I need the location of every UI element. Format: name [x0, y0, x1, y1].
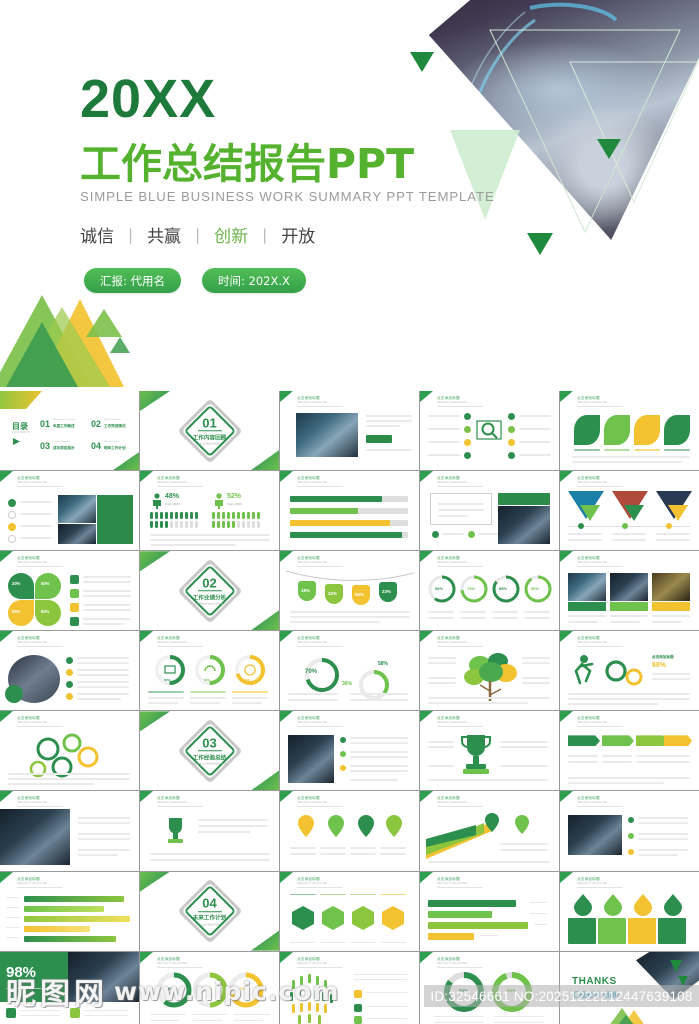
toc-item-3-en: Project Showcase: [53, 441, 71, 443]
final-ring-pct-2: 95%: [507, 988, 516, 993]
slide-header-subtitle: Click here to add your title: [17, 721, 47, 724]
thumbnail-tree-diagram[interactable]: 点击添加标题 Click here to add your title: [420, 631, 559, 710]
toc-item-3-num: 03: [40, 441, 50, 451]
thumbnail-gauges[interactable]: 点击添加标题 Click here to add your title 70% …: [280, 631, 419, 710]
ring-pct-3: 85%: [499, 586, 507, 591]
slide-header-subtitle: Click here to add your title: [577, 401, 607, 404]
ring-pct-2: 73%: [467, 586, 475, 591]
gauge-pct-1: 70%: [305, 669, 317, 675]
slide-header-subtitle: Click here to add your title: [157, 801, 187, 804]
thumbnail-hexagon-icons[interactable]: 点击添加标题 Click here to add your title: [280, 872, 419, 951]
person-icon: [214, 493, 224, 509]
slide-header-subtitle: Click here to add your title: [577, 561, 607, 564]
section-02-cn: 工作业绩分析: [175, 593, 245, 601]
slide-header-subtitle: Click here to add your title: [297, 641, 327, 644]
bottom-ring-pct-2: 50%: [204, 986, 212, 991]
people-array-left: [150, 512, 208, 530]
thumbnail-bar-list[interactable]: 点击添加标题 Click here to add your title: [420, 872, 559, 951]
gears-icon: [602, 655, 648, 689]
section-02-en: Job Performance Analysis: [175, 602, 245, 605]
toc-item-1-cn: 年度工作概述: [53, 424, 75, 429]
thumbnail-photo-list[interactable]: 点击添加标题 Click here to add your title: [560, 791, 699, 870]
quad-pct-3: 50%: [12, 609, 20, 614]
slide-header-subtitle: Click here to add your title: [437, 561, 467, 564]
thumbnail-droplet-cards[interactable]: 点击添加标题 Click here to add your title: [560, 872, 699, 951]
thumbnail-map-pins[interactable]: 点击添加标题 Click here to add your title: [280, 791, 419, 870]
slide-header-subtitle: Click here to add your title: [17, 561, 47, 564]
toc-item-4-cn: 明年工作计划: [104, 446, 126, 451]
slide-header-subtitle: Click here to add your title: [577, 481, 607, 484]
slide-header-subtitle: Click here to add your title: [297, 962, 327, 965]
thanks-en: THANKS: [572, 976, 617, 987]
thumbnail-hero-98-percent[interactable]: 98%: [0, 952, 139, 1024]
hero-value-2: 共赢: [133, 222, 195, 247]
hero-subtitle: SIMPLE BLUE BUSINESS WORK SUMMARY PPT TE…: [80, 189, 495, 204]
thumbnail-bullet-photo[interactable]: 点击添加标题 Click here to add your title: [0, 471, 139, 550]
section-01-num: 01: [175, 416, 245, 429]
thumbnail-section-04[interactable]: 04 未来工作计划 Future Work Plan: [140, 872, 279, 951]
gauge-pct-3: 58%: [378, 661, 388, 667]
tree-icon: [460, 651, 520, 707]
hero-value-1: 诚信: [80, 222, 128, 247]
section-01-cn: 工作内容回顾: [175, 433, 245, 441]
hero-cover-slide: 20XX 工作总结报告PPT SIMPLE BLUE BUSINESS WORK…: [0, 0, 699, 391]
section-03-en: Summary of Work Experience: [175, 763, 245, 766]
thumbnail-people-stats[interactable]: 点击添加标题 Click here to add your title 48% …: [140, 471, 279, 550]
date-pill: 时间: 202X.X: [202, 268, 306, 293]
stat-right-label: From 20XX: [227, 502, 242, 506]
quad-pct-2: 50%: [41, 581, 49, 586]
slide-header-subtitle: Click here to add your title: [577, 641, 607, 644]
slide-header-subtitle: Click here to add your title: [437, 401, 467, 404]
thumbnail-gear-cluster[interactable]: 点击添加标题 Click here to add your title: [0, 711, 139, 790]
slide-header-subtitle: Click here to add your title: [17, 801, 47, 804]
toc-item-2-en: Work Completion: [104, 419, 121, 421]
hero-percent: 98%: [6, 964, 36, 981]
slide-header-subtitle: Click here to add your title: [437, 882, 467, 885]
hero-year: 20XX: [80, 68, 216, 130]
thumbnail-arrow-steps[interactable]: 点击添加标题 Click here to add your title: [560, 711, 699, 790]
ppt-template-preview-page: 20XX 工作总结报告PPT SIMPLE BLUE BUSINESS WORK…: [0, 0, 699, 1024]
slide-header-subtitle: Click here to add your title: [437, 801, 467, 804]
section-04-en: Future Work Plan: [175, 923, 245, 926]
thumbnail-boxed-text-photo[interactable]: 点击添加标题 Click here to add your title: [420, 471, 559, 550]
green-triangle-2: [597, 139, 621, 159]
toc-item-3-cn: 成功项目展示: [53, 446, 75, 451]
thumbnail-four-leaf-icons[interactable]: 点击添加标题 Click here to add your title: [560, 391, 699, 470]
tag-pct-1: 18%: [301, 588, 310, 593]
thumbnail-ring-row[interactable]: 点击添加标题 Click here to add your title 60% …: [420, 551, 559, 630]
thumbnail-people-cloud[interactable]: 点击添加标题 Click here to add your title: [280, 952, 419, 1024]
thumbnail-three-rings[interactable]: 点击添加标题 Click here to add your title 60% …: [140, 952, 279, 1024]
thanks-triangle-decoration: [648, 956, 696, 996]
mountain-triangles-decoration: [608, 1006, 656, 1024]
quad-pct-4: 60%: [41, 609, 49, 614]
slide-header-subtitle: Click here to add your title: [297, 561, 327, 564]
toc-item-4-en: Next Year Plan: [104, 441, 118, 443]
thumbnail-photo-cards[interactable]: 点击添加标题 Click here to add your title: [560, 551, 699, 630]
hero-title: 工作总结报告PPT: [80, 130, 414, 190]
slide-header-subtitle: Click here to add your title: [17, 882, 47, 885]
ring-pct-4: 90%: [531, 586, 539, 591]
slide-header-subtitle: Click here to add your title: [157, 481, 187, 484]
hero-value-3: 创新: [200, 222, 262, 247]
toc-item-1-en: Annual Work Overview: [53, 419, 75, 421]
slide-header-subtitle: Click here to add your title: [157, 962, 187, 965]
slide-header-subtitle: Click here to add your title: [437, 641, 467, 644]
thumbnail-magnifier-list[interactable]: 点击添加标题 Click here to add your title: [420, 391, 559, 470]
stat-left-label: From 20XX: [165, 502, 180, 506]
toc-item-2-num: 02: [91, 419, 101, 429]
ring-pct-1: 60%: [435, 586, 443, 591]
funnel-triangle-group: [566, 491, 694, 523]
slide-header-subtitle: Click here to add your title: [437, 481, 467, 484]
placeholder-title: 点击添加标题: [652, 655, 674, 660]
slide-header-subtitle: Click here to add your title: [297, 401, 327, 404]
slide-header-subtitle: Click here to add your title: [17, 641, 47, 644]
thumbnail-trophy-award[interactable]: 点击添加标题 Click here to add your title: [420, 711, 559, 790]
section-01-en: Job Content Review: [175, 442, 245, 445]
slide-header-subtitle: Click here to add your title: [297, 882, 327, 885]
green-triangle-3: [527, 233, 553, 255]
section-03-cn: 工作经验总结: [175, 753, 245, 761]
slide-header-subtitle: Click here to add your title: [297, 721, 327, 724]
stat-left-value: 48%: [165, 493, 179, 500]
thumbnail-trophy-small[interactable]: 点击添加标题 Click here to add your title: [140, 791, 279, 870]
slide-header-subtitle: Click here to add your title: [577, 801, 607, 804]
section-04-num: 04: [175, 896, 245, 909]
hero-values-row: 诚信 | 共赢 | 创新 | 开放: [80, 222, 329, 247]
people-cloud-icon: [286, 972, 348, 1024]
slide-header-subtitle: Click here to add your title: [297, 481, 327, 484]
toc-item-4-num: 04: [91, 441, 101, 451]
highlight-number: 88%: [652, 662, 666, 669]
gear-cluster-icon: [26, 733, 112, 783]
pin-pair-icon: [480, 811, 550, 839]
slide-header-subtitle: Click here to add your title: [297, 801, 327, 804]
stat-right-value: 52%: [227, 493, 241, 500]
hexagon-group-icon: [290, 906, 410, 938]
section-02-num: 02: [175, 576, 245, 589]
slide-thumbnail-grid: 目录 CONTENTS 01 Annual Work Overview 年度工作…: [0, 391, 699, 1024]
donut-pct-1: 50%: [164, 678, 170, 682]
toc-subtitle: CONTENTS: [12, 431, 30, 434]
pin-group-icon: [294, 813, 406, 843]
slide-header-subtitle: Click here to add your title: [157, 641, 187, 644]
magnifier-icon: [476, 419, 502, 443]
slide-header-subtitle: Click here to add your title: [437, 721, 467, 724]
thumbnail-section-03[interactable]: 03 工作经验总结 Summary of Work Experience: [140, 711, 279, 790]
thumbnail-car-circle[interactable]: 点击添加标题 Click here to add your title: [0, 631, 139, 710]
tag-pct-4: 23%: [382, 589, 391, 594]
droplet-group-icon: [570, 892, 690, 916]
thumbnail-runner-gears[interactable]: 点击添加标题 Click here to add your title 点击添加…: [560, 631, 699, 710]
tag-pct-2: 32%: [328, 591, 337, 596]
runner-icon: [570, 653, 598, 687]
tag-pct-3: 66%: [355, 592, 364, 597]
thumbnail-hanging-tags[interactable]: 点击添加标题 Click here to add your title 18% …: [280, 551, 419, 630]
quad-pct-1: 20%: [12, 581, 20, 586]
mint-triangle-decoration: [448, 128, 528, 224]
thumbnail-photo-bullets[interactable]: 点击添加标题 Click here to add your title: [280, 711, 419, 790]
thumbnail-thanks[interactable]: THANKS 汇报完毕 谢谢!: [560, 952, 699, 1024]
bottom-ring-pct-1: 60%: [168, 986, 176, 991]
final-ring-pct-1: 85%: [459, 988, 468, 993]
thumbnail-car-interior[interactable]: 点击添加标题 Click here to add your title: [0, 791, 139, 870]
thumbnail-gradient-bars[interactable]: 点击添加标题 Click here to add your title: [0, 872, 139, 951]
thumbnail-two-rings[interactable]: 点击添加标题 Click here to add your title 85% …: [420, 952, 559, 1024]
trophy-icon: [162, 815, 188, 849]
thanks-cn: 汇报完毕 谢谢!: [572, 990, 620, 1000]
donut-pct-3: 70%: [244, 678, 250, 682]
mountain-triangles-decoration: [0, 287, 150, 391]
green-triangle-1: [410, 52, 434, 72]
thumbnail-funnel-triangles[interactable]: 点击添加标题 Click here to add your title: [560, 471, 699, 550]
thumbnail-section-02[interactable]: 02 工作业绩分析 Job Performance Analysis: [140, 551, 279, 630]
person-icon: [152, 493, 162, 509]
slide-header-subtitle: Click here to add your title: [577, 721, 607, 724]
thumbnail-ribbon-chart[interactable]: 点击添加标题 Click here to add your title: [420, 791, 559, 870]
gauge-pct-2: 36%: [342, 681, 352, 687]
toc-item-2-cn: 工作完成情况: [104, 424, 126, 429]
thumbnail-quadrant-pie[interactable]: 点击添加标题 Click here to add your title 20% …: [0, 551, 139, 630]
slide-header-subtitle: Click here to add your title: [437, 962, 467, 965]
ring-pair-icon: [438, 970, 542, 1014]
donut-pct-2: 50%: [204, 678, 210, 682]
thumbnail-toc[interactable]: 目录 CONTENTS 01 Annual Work Overview 年度工作…: [0, 391, 139, 470]
thumbnail-section-01[interactable]: 01 工作内容回顾 Job Content Review: [140, 391, 279, 470]
section-03-num: 03: [175, 736, 245, 749]
thumbnail-donut-icons[interactable]: 点击添加标题 Click here to add your title 50% …: [140, 631, 279, 710]
toc-item-1-num: 01: [40, 419, 50, 429]
slide-header-subtitle: Click here to add your title: [577, 882, 607, 885]
people-array-right: [212, 512, 270, 530]
slide-header-subtitle: Click here to add your title: [17, 481, 47, 484]
thumbnail-horizontal-bars[interactable]: 点击添加标题 Click here to add your title: [280, 471, 419, 550]
bottom-ring-pct-3: 70%: [240, 986, 248, 991]
thumbnail-photo-text[interactable]: 点击添加标题 Click here to add your title: [280, 391, 419, 470]
hero-value-4: 开放: [267, 222, 329, 247]
trophy-icon: [458, 731, 494, 779]
section-04-cn: 未来工作计划: [175, 913, 245, 921]
